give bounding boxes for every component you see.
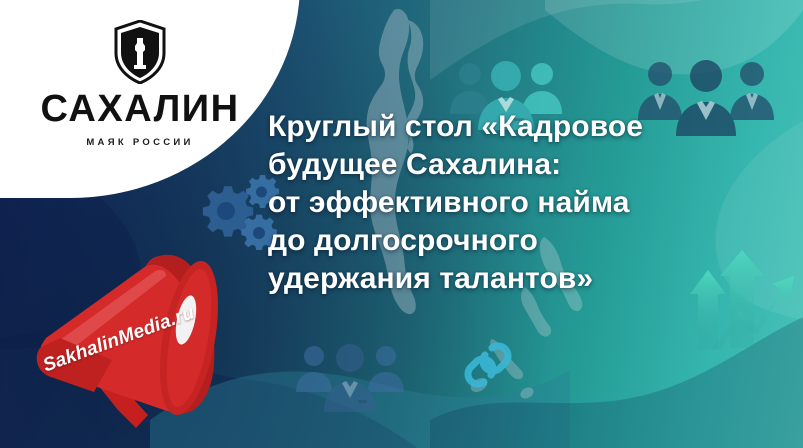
sakhalin-logo[interactable]: САХАЛИН МАЯК РОССИИ <box>40 20 240 148</box>
logo-tagline: МАЯК РОССИИ <box>40 137 240 148</box>
shield-lighthouse-icon <box>114 20 166 84</box>
megaphone-icon: SakhalinMedia.ru <box>8 252 270 442</box>
promo-banner: САХАЛИН МАЯК РОССИИ Круглый стол «Кадров… <box>0 0 803 448</box>
page-title: Круглый стол «Кадровое будущее Сахалина:… <box>268 108 788 298</box>
logo-wordmark: САХАЛИН <box>40 90 240 128</box>
